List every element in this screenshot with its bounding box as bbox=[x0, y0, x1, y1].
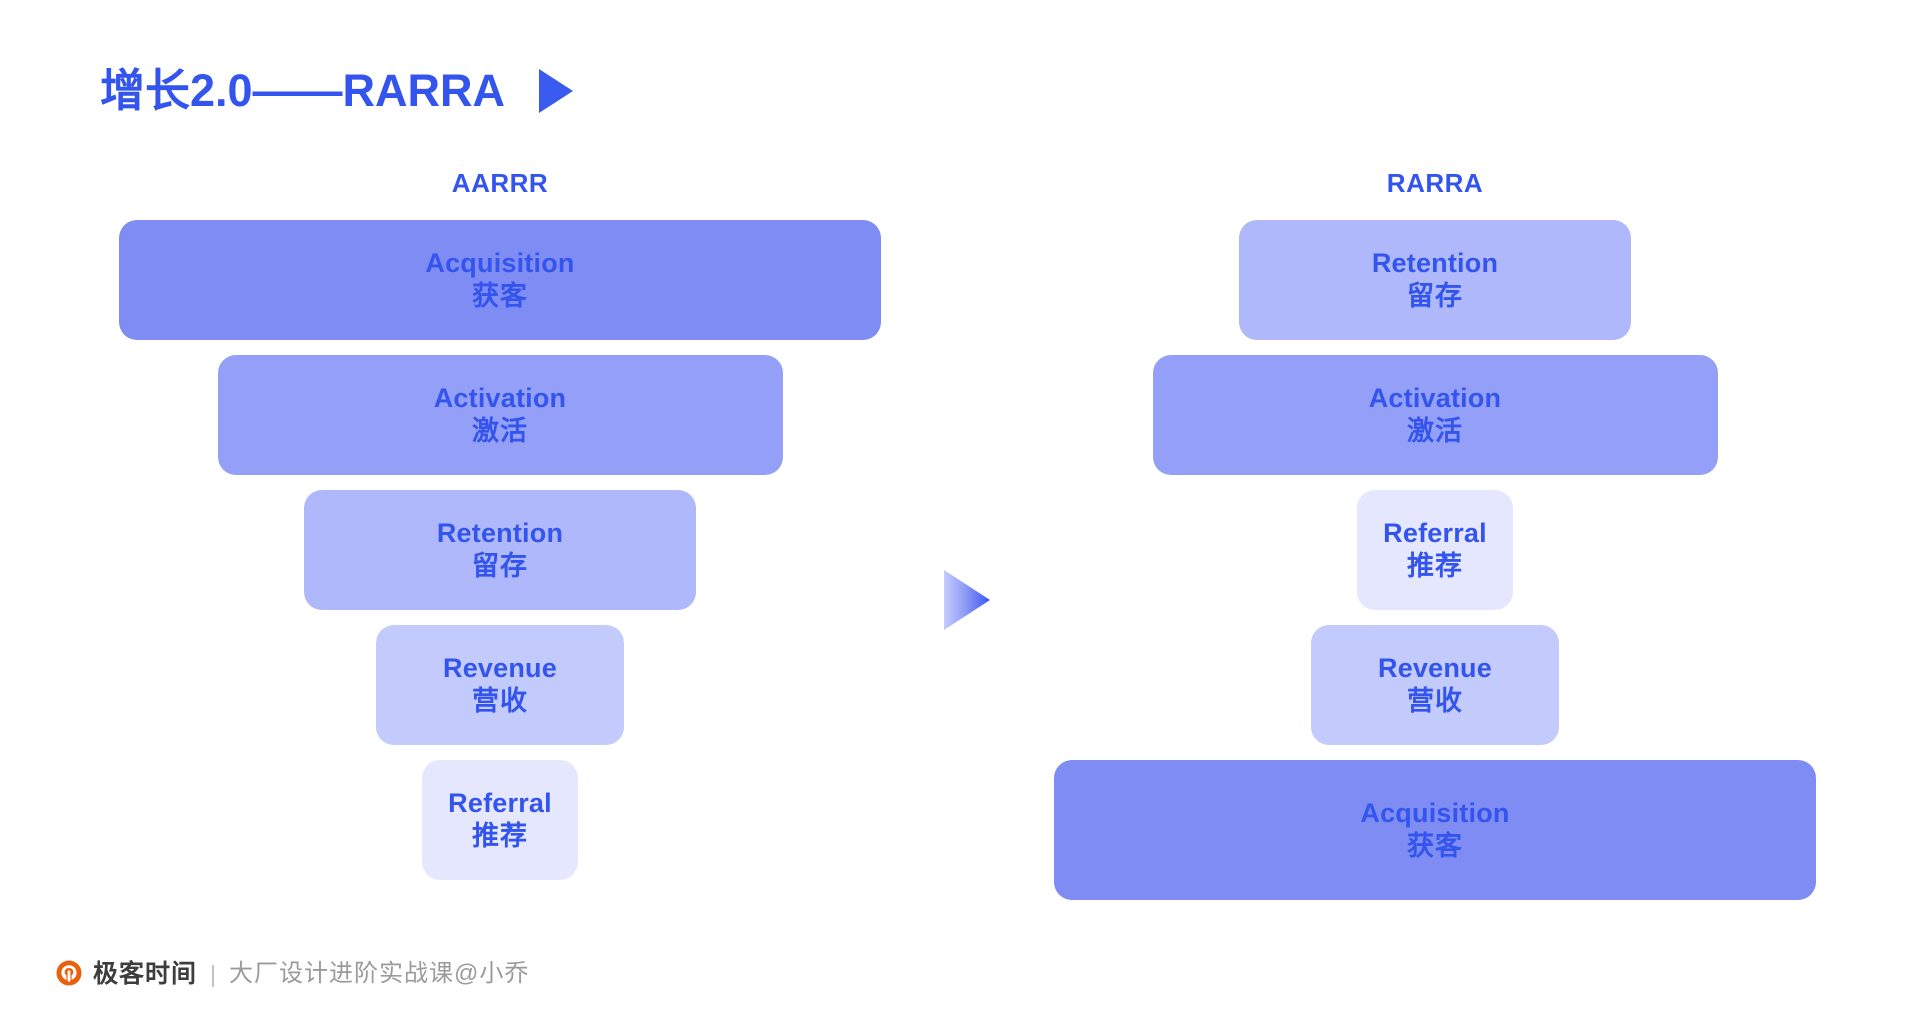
stage-label-cn: 激活 bbox=[472, 415, 528, 448]
stage-label-en: Referral bbox=[448, 787, 552, 820]
play-triangle-gradient-icon bbox=[944, 570, 990, 630]
stage-label-en: Referral bbox=[1383, 517, 1487, 550]
stage-activation[interactable]: Activation 激活 bbox=[1153, 355, 1718, 475]
stage-label-cn: 获客 bbox=[1407, 830, 1463, 863]
stage-acquisition[interactable]: Acquisition 获客 bbox=[119, 220, 881, 340]
stage-label-en: Revenue bbox=[1378, 652, 1492, 685]
stage-label-cn: 推荐 bbox=[1407, 550, 1463, 583]
play-triangle-gradient-shape bbox=[944, 570, 990, 630]
stage-label-cn: 留存 bbox=[1407, 280, 1463, 313]
stage-label-cn: 营收 bbox=[1407, 685, 1463, 718]
play-triangle-icon bbox=[539, 69, 573, 113]
stage-retention[interactable]: Retention 留存 bbox=[1239, 220, 1631, 340]
stage-revenue[interactable]: Revenue 营收 bbox=[376, 625, 624, 745]
stage-label-cn: 激活 bbox=[1407, 415, 1463, 448]
stage-label-en: Activation bbox=[1369, 382, 1502, 415]
stage-label-en: Acquisition bbox=[425, 247, 574, 280]
stage-revenue[interactable]: Revenue 营收 bbox=[1311, 625, 1559, 745]
stage-retention[interactable]: Retention 留存 bbox=[304, 490, 696, 610]
stage-label-en: Retention bbox=[437, 517, 563, 550]
stage-referral[interactable]: Referral 推荐 bbox=[422, 760, 578, 880]
stage-label-cn: 推荐 bbox=[472, 820, 528, 853]
funnel-aarrr-title: AARRR bbox=[452, 170, 548, 196]
stage-label-cn: 营收 bbox=[472, 685, 528, 718]
stage-label-en: Acquisition bbox=[1360, 797, 1509, 830]
stage-label-en: Retention bbox=[1372, 247, 1498, 280]
page-title: 增长2.0——RARRA bbox=[100, 68, 505, 113]
stage-acquisition[interactable]: Acquisition 获客 bbox=[1054, 760, 1816, 900]
funnel-rarra: RARRA Retention 留存 Activation 激活 Referra… bbox=[1035, 170, 1835, 900]
stage-label-en: Activation bbox=[434, 382, 567, 415]
footer-divider: | bbox=[210, 963, 216, 986]
footer: 极客时间 | 大厂设计进阶实战课@小乔 bbox=[54, 954, 529, 994]
geekbang-circle-logo-icon bbox=[54, 959, 84, 989]
slide-title-row: 增长2.0——RARRA bbox=[100, 58, 573, 122]
funnel-rarra-title: RARRA bbox=[1387, 170, 1483, 196]
stage-referral[interactable]: Referral 推荐 bbox=[1357, 490, 1513, 610]
footer-brand: 极客时间 bbox=[93, 962, 197, 987]
stage-label-cn: 留存 bbox=[472, 550, 528, 583]
stage-activation[interactable]: Activation 激活 bbox=[218, 355, 783, 475]
stage-label-cn: 获客 bbox=[472, 280, 528, 313]
stage-label-en: Revenue bbox=[443, 652, 557, 685]
footer-course-label: 大厂设计进阶实战课@小乔 bbox=[229, 962, 529, 986]
funnel-aarrr: AARRR Acquisition 获客 Activation 激活 Reten… bbox=[100, 170, 900, 880]
